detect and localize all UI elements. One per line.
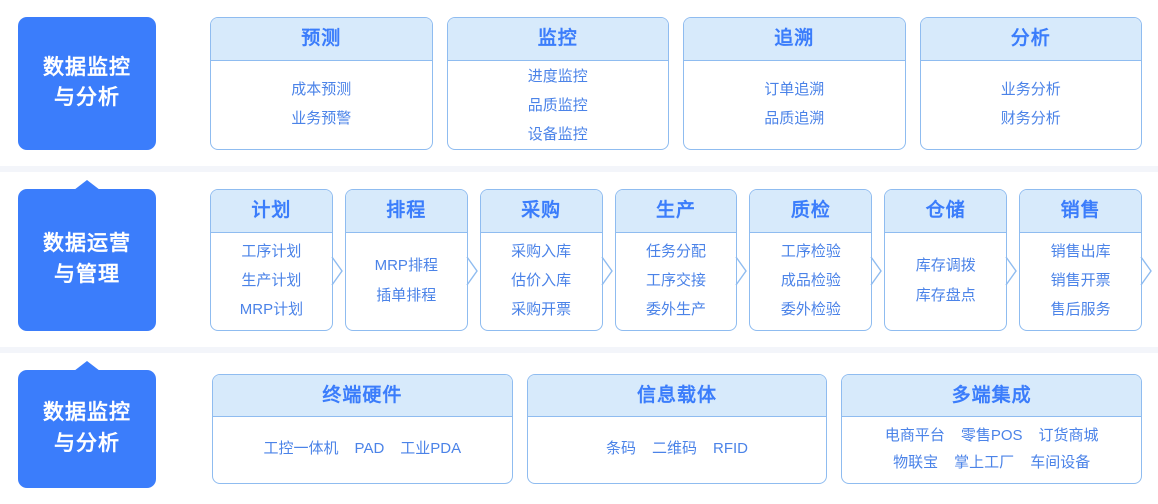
pillar-label-line2: 与管理 bbox=[54, 260, 120, 290]
card-strip-middle: 计划 工序计划 生产计划 MRP计划 排程 MRP排程 插单排程 bbox=[156, 172, 1142, 347]
card-title-terminal-hardware: 终端硬件 bbox=[213, 375, 512, 417]
list-item[interactable]: 订单追溯 bbox=[764, 78, 824, 102]
card-strip-top: 预测 成本预测 业务预警 监控 进度监控 品质监控 设备监控 追溯 订单追溯 bbox=[156, 0, 1142, 166]
list-item[interactable]: 采购入库 bbox=[511, 240, 571, 264]
card-title-multi-terminal-integration: 多端集成 bbox=[842, 375, 1141, 417]
card-quality-inspection[interactable]: 质检 工序检验 成品检验 委外检验 bbox=[749, 189, 872, 331]
list-item[interactable]: 设备监控 bbox=[528, 123, 588, 147]
up-arrow-notch-icon bbox=[74, 180, 100, 190]
card-information-carrier[interactable]: 信息载体 条码 二维码 RFID bbox=[527, 374, 828, 484]
card-items-information-carrier: 条码 二维码 RFID bbox=[528, 417, 827, 483]
list-item[interactable]: 工控一体机 bbox=[264, 437, 339, 461]
card-warehousing[interactable]: 仓储 库存调拨 库存盘点 bbox=[884, 189, 1007, 331]
card-title-quality-inspection: 质检 bbox=[750, 190, 871, 233]
list-item[interactable]: 财务分析 bbox=[1001, 107, 1061, 131]
pillar-label-line2: 与分析 bbox=[54, 83, 120, 113]
card-monitoring[interactable]: 监控 进度监控 品质监控 设备监控 bbox=[447, 17, 670, 150]
card-items-production: 任务分配 工序交接 委外生产 bbox=[616, 233, 737, 330]
list-item[interactable]: 工序计划 bbox=[241, 240, 301, 264]
list-item[interactable]: 电商平台 bbox=[885, 424, 945, 448]
item-row: 物联宝 掌上工厂 车间设备 bbox=[893, 451, 1090, 475]
list-item[interactable]: 成品检验 bbox=[781, 269, 841, 293]
pillar-label-line2: 与分析 bbox=[54, 429, 120, 459]
section-data-collection-infrastructure: 数据监控 与分析 终端硬件 工控一体机 PAD 工业PDA 信息载体 条码 bbox=[0, 353, 1158, 504]
card-items-terminal-hardware: 工控一体机 PAD 工业PDA bbox=[213, 417, 512, 483]
list-item[interactable]: 售后服务 bbox=[1051, 298, 1111, 322]
list-item[interactable]: 销售开票 bbox=[1051, 269, 1111, 293]
list-item[interactable]: 物联宝 bbox=[893, 451, 938, 475]
list-item[interactable]: 零售POS bbox=[961, 424, 1023, 448]
list-item[interactable]: 估价入库 bbox=[511, 269, 571, 293]
list-item[interactable]: 进度监控 bbox=[528, 65, 588, 89]
card-items-analysis: 业务分析 财务分析 bbox=[921, 61, 1142, 149]
item-row: 工控一体机 PAD 工业PDA bbox=[264, 437, 462, 461]
list-item[interactable]: 工序检验 bbox=[781, 240, 841, 264]
card-title-sales: 销售 bbox=[1020, 190, 1141, 233]
card-scheduling[interactable]: 排程 MRP排程 插单排程 bbox=[345, 189, 468, 331]
item-row: 电商平台 零售POS 订货商城 bbox=[885, 424, 1099, 448]
list-item[interactable]: 库存盘点 bbox=[916, 284, 976, 308]
list-item[interactable]: 委外检验 bbox=[781, 298, 841, 322]
card-items-purchasing: 采购入库 估价入库 采购开票 bbox=[481, 233, 602, 330]
card-items-forecast: 成本预测 业务预警 bbox=[211, 61, 432, 149]
chevron-right-icon bbox=[1005, 256, 1018, 286]
card-sales[interactable]: 销售 销售出库 销售开票 售后服务 bbox=[1019, 189, 1142, 331]
list-item[interactable]: 掌上工厂 bbox=[954, 451, 1014, 475]
card-title-analysis: 分析 bbox=[921, 18, 1142, 61]
list-item[interactable]: 生产计划 bbox=[241, 269, 301, 293]
list-item[interactable]: 订货商城 bbox=[1039, 424, 1099, 448]
pillar-data-operations-management[interactable]: 数据运营 与管理 bbox=[18, 189, 156, 331]
chevron-right-icon bbox=[1140, 256, 1153, 286]
list-item[interactable]: PAD bbox=[355, 437, 385, 461]
card-items-scheduling: MRP排程 插单排程 bbox=[346, 233, 467, 330]
card-terminal-hardware[interactable]: 终端硬件 工控一体机 PAD 工业PDA bbox=[212, 374, 513, 484]
list-item[interactable]: 工序交接 bbox=[646, 269, 706, 293]
list-item[interactable]: 插单排程 bbox=[376, 284, 436, 308]
card-traceability[interactable]: 追溯 订单追溯 品质追溯 bbox=[683, 17, 906, 150]
list-item[interactable]: MRP排程 bbox=[375, 254, 438, 278]
list-item[interactable]: 采购开票 bbox=[511, 298, 571, 322]
chevron-right-icon bbox=[870, 256, 883, 286]
card-production[interactable]: 生产 任务分配 工序交接 委外生产 bbox=[615, 189, 738, 331]
card-analysis[interactable]: 分析 业务分析 财务分析 bbox=[920, 17, 1143, 150]
card-title-monitoring: 监控 bbox=[448, 18, 669, 61]
card-title-forecast: 预测 bbox=[211, 18, 432, 61]
card-plan[interactable]: 计划 工序计划 生产计划 MRP计划 bbox=[210, 189, 333, 331]
list-item[interactable]: 品质追溯 bbox=[764, 107, 824, 131]
pillar-data-monitoring-analysis-bottom[interactable]: 数据监控 与分析 bbox=[18, 370, 156, 488]
list-item[interactable]: 业务预警 bbox=[291, 107, 351, 131]
list-item[interactable]: 销售出库 bbox=[1051, 240, 1111, 264]
list-item[interactable]: MRP计划 bbox=[240, 298, 303, 322]
pillar-label-line1: 数据监控 bbox=[43, 53, 131, 83]
card-items-multi-terminal-integration: 电商平台 零售POS 订货商城 物联宝 掌上工厂 车间设备 bbox=[842, 417, 1141, 483]
pillar-label-line1: 数据监控 bbox=[43, 398, 131, 428]
card-items-monitoring: 进度监控 品质监控 设备监控 bbox=[448, 61, 669, 152]
card-strip-bottom: 终端硬件 工控一体机 PAD 工业PDA 信息载体 条码 二维码 RFID bbox=[156, 353, 1142, 504]
card-items-warehousing: 库存调拨 库存盘点 bbox=[885, 233, 1006, 330]
card-items-sales: 销售出库 销售开票 售后服务 bbox=[1020, 233, 1141, 330]
list-item[interactable]: 条码 bbox=[606, 437, 636, 461]
card-title-information-carrier: 信息载体 bbox=[528, 375, 827, 417]
architecture-diagram: 数据监控 与分析 预测 成本预测 业务预警 监控 进度监控 品质监控 设备监控 bbox=[0, 0, 1158, 504]
card-forecast[interactable]: 预测 成本预测 业务预警 bbox=[210, 17, 433, 150]
card-items-quality-inspection: 工序检验 成品检验 委外检验 bbox=[750, 233, 871, 330]
chevron-right-icon bbox=[601, 256, 614, 286]
list-item[interactable]: 任务分配 bbox=[646, 240, 706, 264]
card-title-plan: 计划 bbox=[211, 190, 332, 233]
card-items-plan: 工序计划 生产计划 MRP计划 bbox=[211, 233, 332, 330]
card-title-warehousing: 仓储 bbox=[885, 190, 1006, 233]
chevron-right-icon bbox=[331, 256, 344, 286]
card-title-scheduling: 排程 bbox=[346, 190, 467, 233]
chevron-right-icon bbox=[735, 256, 748, 286]
list-item[interactable]: 成本预测 bbox=[291, 78, 351, 102]
list-item[interactable]: 工业PDA bbox=[400, 437, 461, 461]
section-data-monitoring-analysis: 数据监控 与分析 预测 成本预测 业务预警 监控 进度监控 品质监控 设备监控 bbox=[0, 0, 1158, 166]
section-data-operations-management: 数据运营 与管理 计划 工序计划 生产计划 MRP计划 排程 MRP排程 插单 bbox=[0, 172, 1158, 347]
card-multi-terminal-integration[interactable]: 多端集成 电商平台 零售POS 订货商城 物联宝 掌上工厂 车间设备 bbox=[841, 374, 1142, 484]
card-title-production: 生产 bbox=[616, 190, 737, 233]
up-arrow-notch-icon bbox=[74, 361, 100, 371]
list-item[interactable]: 库存调拨 bbox=[916, 254, 976, 278]
list-item[interactable]: 品质监控 bbox=[528, 94, 588, 118]
card-title-purchasing: 采购 bbox=[481, 190, 602, 233]
list-item[interactable]: 业务分析 bbox=[1001, 78, 1061, 102]
list-item[interactable]: RFID bbox=[713, 437, 748, 461]
item-row: 条码 二维码 RFID bbox=[606, 437, 748, 461]
list-item[interactable]: 委外生产 bbox=[646, 298, 706, 322]
pillar-label-line1: 数据运营 bbox=[43, 229, 131, 259]
card-purchasing[interactable]: 采购 采购入库 估价入库 采购开票 bbox=[480, 189, 603, 331]
card-items-traceability: 订单追溯 品质追溯 bbox=[684, 61, 905, 149]
card-title-traceability: 追溯 bbox=[684, 18, 905, 61]
list-item[interactable]: 车间设备 bbox=[1030, 451, 1090, 475]
list-item[interactable]: 二维码 bbox=[652, 437, 697, 461]
pillar-data-monitoring-analysis[interactable]: 数据监控 与分析 bbox=[18, 17, 156, 150]
chevron-right-icon bbox=[466, 256, 479, 286]
